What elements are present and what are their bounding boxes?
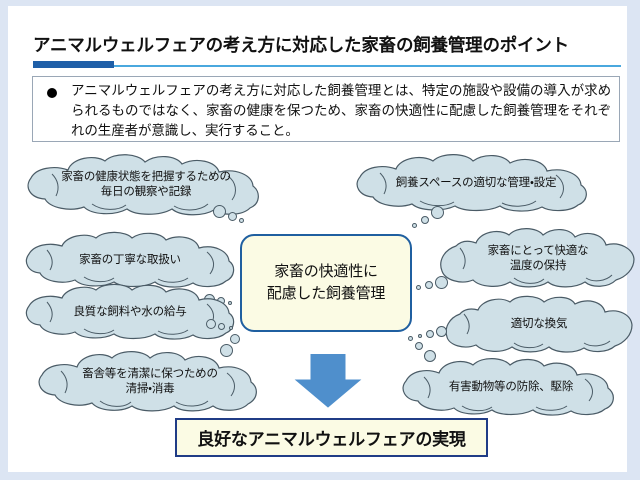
bubble-trail-feeding-space: [410, 206, 444, 230]
cloud-ventilation: 適切な換気: [444, 296, 634, 352]
centre-concept-label: 家畜の快適性に 配慮した飼養管理: [267, 261, 385, 305]
bubble-trail-comfortable-temp: [414, 276, 446, 294]
bubble-trail-health-observation: [213, 205, 247, 227]
bubble-trail-barn-cleaning: [214, 334, 242, 362]
lead-text-box: アニマルウェルフェアの考え方に対応した飼養管理とは、特定の施設や設備の導入が求め…: [32, 76, 620, 142]
slide-canvas: アニマルウェルフェアの考え方に対応した家畜の飼養管理のポイント アニマルウェルフ…: [8, 6, 627, 472]
cloud-shape: [444, 296, 634, 352]
cloud-pest-control: 有害動物等の防除、駆除: [398, 358, 624, 416]
slide-frame: アニマルウェルフェアの考え方に対応した家畜の飼養管理のポイント アニマルウェルフ…: [0, 0, 640, 480]
down-arrow-icon: [294, 354, 362, 408]
cloud-comfortable-temp: 家畜にとって快適な 温度の保持: [440, 228, 636, 290]
bullet-point-icon: [47, 88, 57, 98]
cloud-shape: [352, 154, 600, 212]
bubble-trail-pest-control: [406, 336, 436, 362]
title-underline-light: [33, 65, 621, 67]
cloud-feeding-space: 飼養スペースの適切な管理・設定: [352, 154, 600, 212]
result-label: 良好なアニマルウェルフェアの実現: [197, 425, 465, 450]
centre-concept-box: 家畜の快適性に 配慮した飼養管理: [240, 234, 412, 332]
lead-paragraph: アニマルウェルフェアの考え方に対応した飼養管理とは、特定の施設や設備の導入が求め…: [71, 81, 611, 141]
bubble-trail-feed-and-water: [206, 317, 240, 333]
page-title: アニマルウェルフェアの考え方に対応した家畜の飼養管理のポイント: [33, 32, 613, 57]
cloud-careful-handling: 家畜の丁寧な取扱い: [22, 232, 238, 288]
cloud-shape: [398, 358, 624, 416]
result-box: 良好なアニマルウェルフェアの実現: [175, 418, 488, 457]
title-underline-dark: [33, 61, 114, 68]
cloud-shape: [440, 228, 636, 290]
cloud-shape: [22, 232, 238, 288]
